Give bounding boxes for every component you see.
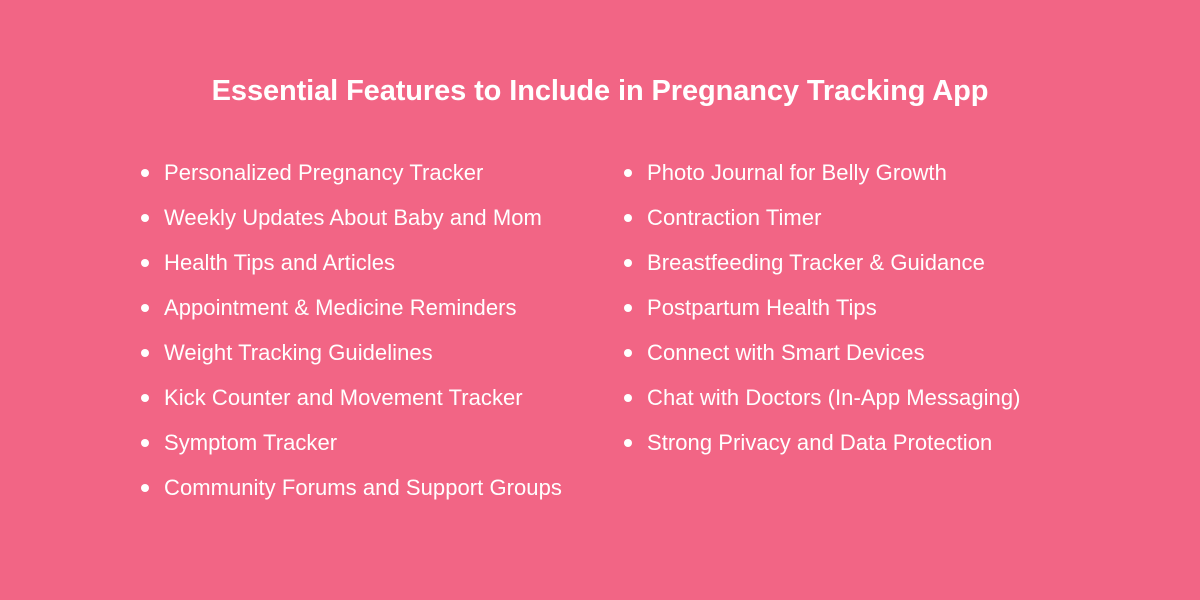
list-item: Symptom Tracker (141, 428, 621, 473)
list-item-label: Photo Journal for Belly Growth (647, 158, 947, 188)
list-item: Chat with Doctors (In-App Messaging) (624, 383, 1104, 428)
list-item: Community Forums and Support Groups (141, 473, 621, 518)
list-item-label: Appointment & Medicine Reminders (164, 293, 517, 323)
feature-column-left: Personalized Pregnancy Tracker Weekly Up… (141, 158, 621, 518)
list-item: Appointment & Medicine Reminders (141, 293, 621, 338)
list-item-label: Contraction Timer (647, 203, 821, 233)
list-item-label: Weekly Updates About Baby and Mom (164, 203, 542, 233)
bullet-dot-icon (624, 169, 632, 177)
list-item: Breastfeeding Tracker & Guidance (624, 248, 1104, 293)
list-item-label: Symptom Tracker (164, 428, 337, 458)
bullet-dot-icon (141, 259, 149, 267)
list-item: Photo Journal for Belly Growth (624, 158, 1104, 203)
list-item: Weekly Updates About Baby and Mom (141, 203, 621, 248)
list-item-label: Personalized Pregnancy Tracker (164, 158, 483, 188)
list-item: Contraction Timer (624, 203, 1104, 248)
bullet-dot-icon (624, 394, 632, 402)
page-title: Essential Features to Include in Pregnan… (0, 74, 1200, 109)
list-item-label: Breastfeeding Tracker & Guidance (647, 248, 985, 278)
list-item: Personalized Pregnancy Tracker (141, 158, 621, 203)
list-item: Connect with Smart Devices (624, 338, 1104, 383)
bullet-dot-icon (141, 304, 149, 312)
list-item-label: Kick Counter and Movement Tracker (164, 383, 523, 413)
bullet-dot-icon (141, 349, 149, 357)
list-item-label: Health Tips and Articles (164, 248, 395, 278)
list-item: Strong Privacy and Data Protection (624, 428, 1104, 473)
bullet-dot-icon (624, 259, 632, 267)
bullet-dot-icon (624, 214, 632, 222)
list-item: Kick Counter and Movement Tracker (141, 383, 621, 428)
list-item: Weight Tracking Guidelines (141, 338, 621, 383)
list-item-label: Chat with Doctors (In-App Messaging) (647, 383, 1021, 413)
list-item-label: Postpartum Health Tips (647, 293, 877, 323)
bullet-dot-icon (141, 169, 149, 177)
list-item-label: Community Forums and Support Groups (164, 473, 562, 503)
bullet-dot-icon (624, 304, 632, 312)
bullet-dot-icon (141, 394, 149, 402)
bullet-dot-icon (141, 484, 149, 492)
feature-column-right: Photo Journal for Belly Growth Contracti… (624, 158, 1104, 473)
slide-canvas: Essential Features to Include in Pregnan… (0, 0, 1200, 600)
feature-list: Personalized Pregnancy Tracker Weekly Up… (0, 158, 1200, 518)
bullet-dot-icon (624, 439, 632, 447)
list-item: Health Tips and Articles (141, 248, 621, 293)
bullet-dot-icon (141, 439, 149, 447)
list-item-label: Connect with Smart Devices (647, 338, 925, 368)
list-item-label: Strong Privacy and Data Protection (647, 428, 992, 458)
bullet-dot-icon (624, 349, 632, 357)
bullet-dot-icon (141, 214, 149, 222)
list-item-label: Weight Tracking Guidelines (164, 338, 433, 368)
list-item: Postpartum Health Tips (624, 293, 1104, 338)
